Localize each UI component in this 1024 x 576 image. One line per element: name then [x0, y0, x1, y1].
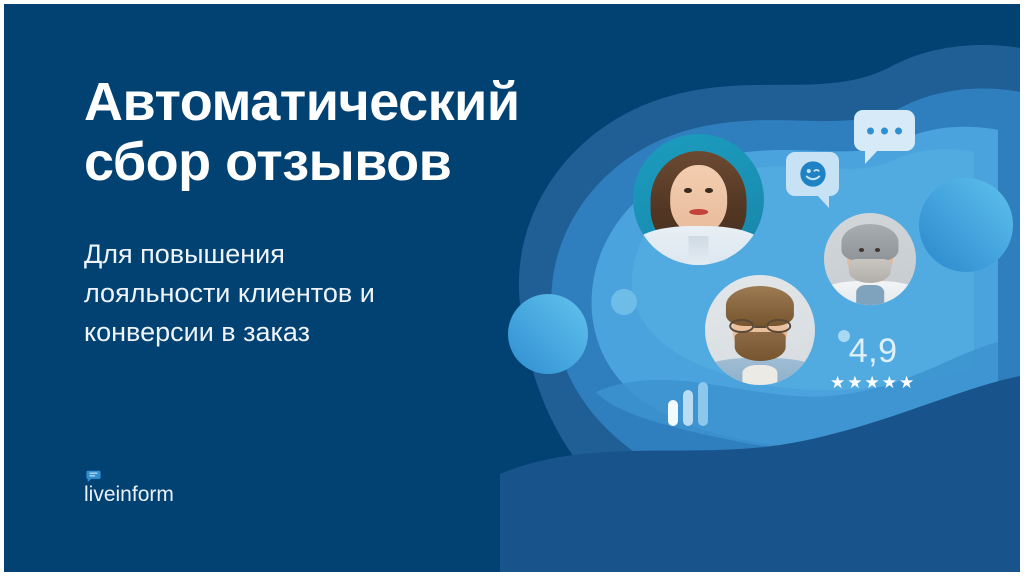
avatar-young-man-tee [742, 365, 777, 385]
rating-value: 4,9 [830, 334, 916, 368]
bar-chart-bar-2 [683, 390, 693, 426]
bar-chart-icon [668, 382, 708, 426]
bar-chart-bar-1 [668, 400, 678, 426]
logo-text: liveinform [84, 484, 174, 505]
glasses-icon [729, 319, 791, 333]
typing-dot-1 [867, 127, 874, 134]
typing-dots [854, 127, 915, 134]
page-title: Автоматический сбор отзывов [84, 72, 584, 193]
avatar-mature-man-beard [849, 259, 891, 283]
avatar-woman-face [670, 165, 728, 233]
text-column: Автоматический сбор отзывов Для повышени… [84, 72, 584, 352]
rating-block: 4,9 ★★★★★ [830, 334, 916, 391]
rating-stars: ★★★★★ [830, 374, 916, 391]
avatar-woman-eye-left [684, 188, 692, 193]
glasses-lens-left [729, 319, 754, 333]
avatar-woman-eye-right [705, 188, 713, 193]
logo[interactable]: liveinform [84, 470, 174, 505]
avatar-woman-collar [688, 236, 709, 265]
avatar-mature-man [824, 213, 916, 305]
glasses-lens-right [766, 319, 791, 333]
chat-bubble-smiley-icon [786, 152, 839, 196]
floating-circle-right [919, 178, 1013, 272]
page-subtitle: Для повышения лояльности клиентов и конв… [84, 235, 584, 352]
avatar-young-man [705, 275, 815, 385]
typing-dot-3 [895, 127, 902, 134]
chat-bubble-dots-icon [854, 110, 915, 151]
accent-dot-lower-left [611, 289, 637, 315]
smiley-wink-icon [799, 161, 826, 188]
avatar-mature-man-hair [841, 224, 898, 261]
avatar-woman [633, 134, 764, 265]
bar-chart-bar-3 [698, 382, 708, 426]
glasses-bridge [754, 326, 766, 328]
avatar-young-man-beard [735, 332, 786, 361]
avatar-mature-man-eye-left [859, 248, 865, 252]
avatar-mature-man-eye-right [875, 248, 881, 252]
speech-bubble-icon [86, 470, 101, 483]
avatar-woman-mouth [689, 209, 709, 216]
typing-dot-2 [881, 127, 888, 134]
promo-banner: 4,9 ★★★★★ Автоматический сбор отзывов Дл… [0, 0, 1024, 576]
avatar-mature-man-shirt [856, 285, 884, 305]
